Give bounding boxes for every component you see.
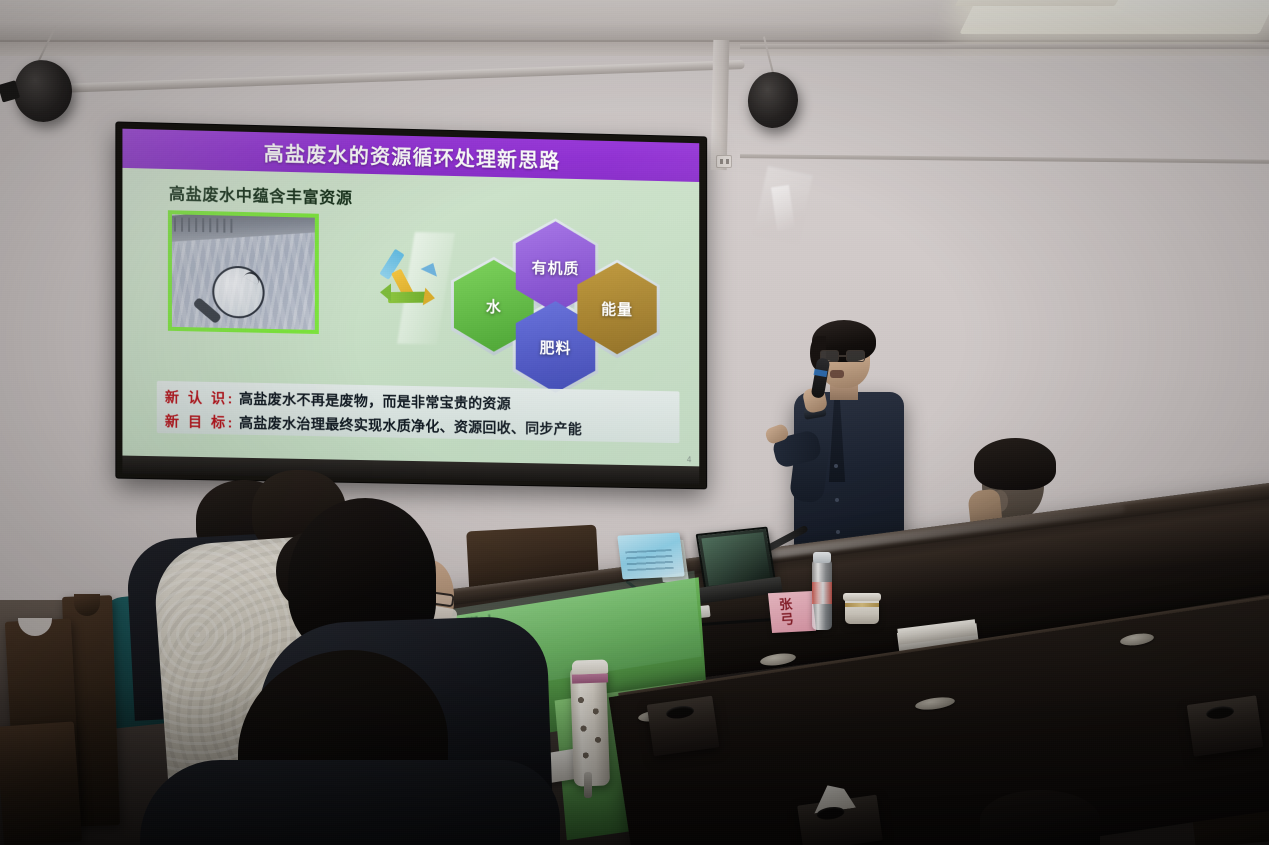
slide-title: 高盐废水的资源循环处理新思路 [264, 137, 561, 173]
resource-hexagon-group: 水 有机质 肥料 能量 [454, 223, 682, 378]
hexagon-water-label: 水 [486, 295, 502, 316]
presenter-button-2 [835, 498, 839, 502]
presenter-button-3 [836, 530, 840, 534]
water-bottle-cap [813, 552, 831, 563]
tissue-box-1 [647, 696, 720, 757]
presenter-mouth [830, 370, 844, 378]
audience-head-bottom-right [980, 790, 1100, 845]
wall-outlet [716, 155, 732, 168]
laptop-screen [701, 532, 770, 586]
hexagon-fertilizer-label: 肥料 [540, 336, 572, 358]
hexagon-energy-label: 能量 [601, 298, 633, 320]
bullet-1-key: 新 认 识: [165, 387, 235, 408]
speaker-bracket [0, 80, 20, 102]
recycle-arrowhead-green [380, 283, 391, 301]
slide-photo-wastewater [168, 210, 319, 334]
photo-basin-rail [174, 217, 236, 233]
wall-seam-upper [740, 44, 1269, 49]
glasses-bridge [839, 355, 846, 357]
recycle-icon [382, 255, 436, 308]
slide-page-number: 4 [687, 455, 691, 464]
screen-display-area: 高盐废水的资源循环处理新思路 高盐废水中蕴含丰富资源 [122, 129, 699, 467]
water-bottle-label [812, 582, 832, 604]
hexagon-organic-label: 有机质 [532, 256, 580, 278]
projection-screen: 高盐废水的资源循环处理新思路 高盐废水中蕴含丰富资源 [116, 122, 706, 488]
teacup [845, 598, 879, 624]
slide-title-bar: 高盐废水的资源循环处理新思路 [122, 129, 699, 182]
wall-pilaster [711, 40, 730, 170]
glasses-lens-right [846, 350, 865, 362]
presenter-button-1 [834, 464, 838, 468]
lecture-hall-photo: 高盐废水的资源循环处理新思路 高盐废水中蕴含丰富资源 [0, 0, 1269, 845]
name-card-pink-text: 张弓 [774, 597, 796, 628]
slide-bullet-block: 新 认 识: 高盐废水不再是废物，而是非常宝贵的资源 新 目 标: 高盐废水治理… [157, 381, 680, 443]
tissue-box-3 [1187, 695, 1264, 756]
recycle-arrow-green [388, 292, 428, 304]
name-card-blue-text [625, 549, 673, 571]
bullet-2-value: 高盐废水治理最终实现水质净化、资源回收、同步产能 [239, 413, 582, 440]
presentation-slide: 高盐废水的资源循环处理新思路 高盐废水中蕴含丰富资源 [122, 129, 699, 467]
bullet-2-key: 新 目 标: [165, 411, 235, 432]
audience-body-front [140, 760, 560, 845]
thermos-pink-band [572, 673, 608, 683]
thermos-clip [584, 772, 592, 798]
thermos-pattern [573, 687, 608, 772]
tissue-box-opening [665, 704, 694, 720]
chair-left-3 [0, 721, 82, 845]
recycle-arrowhead-yellow [423, 288, 436, 308]
slide-subtitle: 高盐废水中蕴含丰富资源 [169, 180, 353, 208]
ceiling-light-fixture-secondary [955, 0, 1128, 6]
name-card-blue [617, 533, 684, 580]
bullet-1-value: 高盐废水不再是废物，而是非常宝贵的资源 [239, 388, 511, 413]
teacup-gold-band [845, 603, 879, 607]
thermos-lid [572, 659, 608, 674]
tissue-box-opening-3 [1205, 705, 1234, 721]
seated-man-hair [974, 438, 1056, 490]
teacup-lid [843, 593, 881, 601]
name-card-pink: 张弓 [768, 591, 816, 633]
